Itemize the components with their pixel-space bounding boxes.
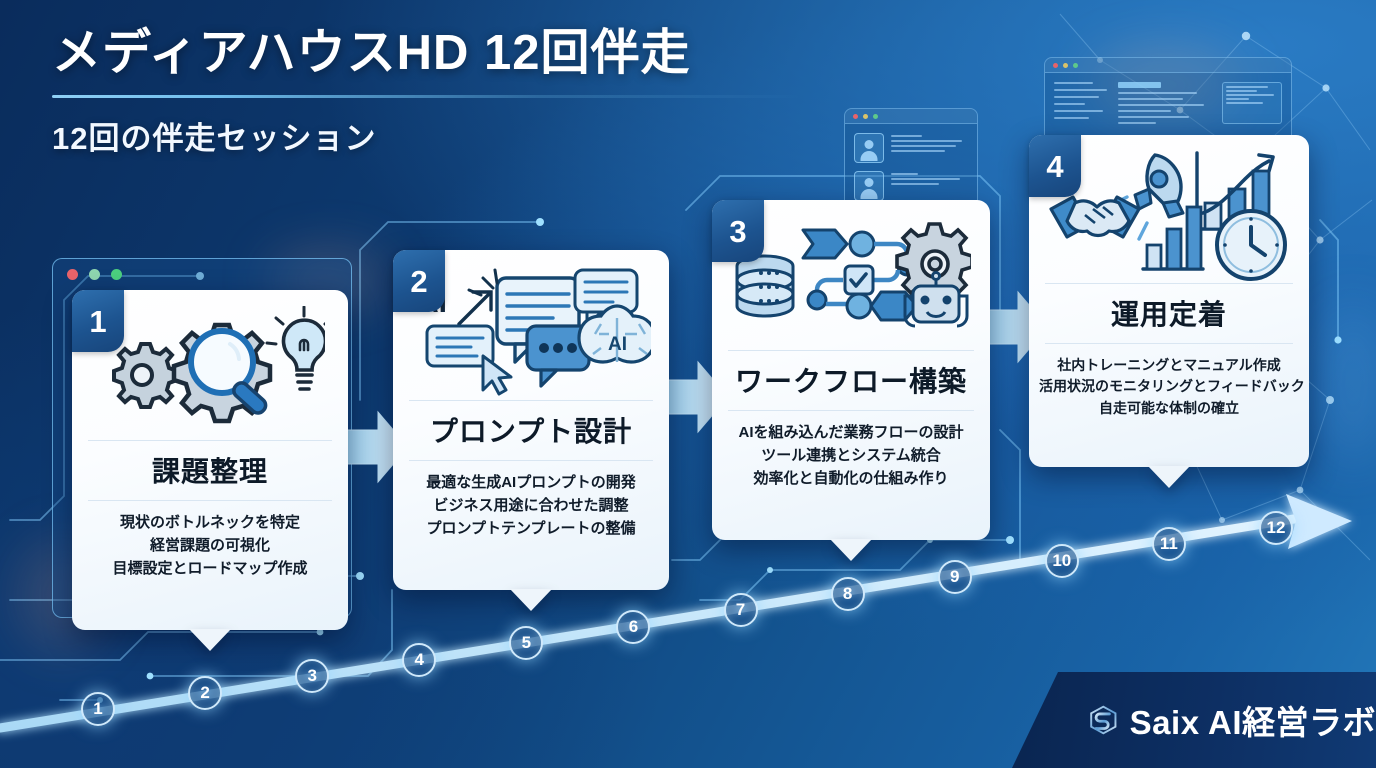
card-2-bullet-3: プロンプトテンプレートの整備 — [403, 518, 659, 541]
card-1-title: 課題整理 — [88, 440, 332, 501]
logo-banner: Saix AI経営ラボ — [1012, 672, 1376, 768]
title-divider — [52, 95, 802, 98]
card-1-bullet-2: 経営課題の可視化 — [82, 535, 338, 558]
card-4-bullet-3: 自走可能な体制の確立 — [1039, 398, 1299, 419]
infographic-canvas: メディアハウスHD 12回伴走 12回の伴走セッション — [0, 0, 1376, 768]
card-1-pointer — [189, 629, 231, 651]
logo-text: Saix AI経営ラボ — [1130, 696, 1376, 744]
timeline-step-9[interactable]: 9 — [938, 560, 972, 594]
timeline-step-3[interactable]: 3 — [295, 659, 329, 693]
card-1-bullets: 現状のボトルネックを特定 経営課題の可視化 目標設定とロードマップ作成 — [72, 501, 348, 594]
card-3-pointer — [830, 539, 872, 561]
card-4-bullets: 社内トレーニングとマニュアル作成 活用状況のモニタリングとフィードバック 自走可… — [1029, 344, 1309, 433]
step-card-3[interactable]: 3 — [712, 200, 990, 540]
svg-text:AI: AI — [608, 334, 627, 355]
cursor-icon — [483, 356, 511, 394]
step-card-1[interactable]: 1 — [72, 290, 348, 630]
timeline-step-7[interactable]: 7 — [724, 593, 758, 627]
timeline-step-10[interactable]: 10 — [1045, 544, 1079, 578]
step-card-2[interactable]: 2 AI — [393, 250, 669, 590]
card-4-pointer — [1148, 466, 1190, 488]
header: メディアハウスHD 12回伴走 12回の伴走セッション — [52, 28, 852, 158]
card-2-bullets: 最適な生成AIプロンプトの開発 ビジネス用途に合わせた調整 プロンプトテンプレー… — [393, 461, 669, 554]
profile-list-window — [844, 108, 978, 214]
timeline-step-4[interactable]: 4 — [402, 643, 436, 677]
step-number-badge: 3 — [712, 200, 764, 262]
card-1-bullet-3: 目標設定とロードマップ作成 — [82, 558, 338, 581]
database-icon — [737, 256, 793, 316]
page-subtitle: 12回の伴走セッション — [52, 113, 852, 158]
timeline-step-2[interactable]: 2 — [188, 676, 222, 710]
card-2-bullet-1: 最適な生成AIプロンプトの開発 — [403, 472, 659, 495]
hexagon-s-icon — [1090, 697, 1117, 743]
avatar — [854, 133, 884, 163]
handshake-icon — [1051, 197, 1139, 237]
window-titlebar — [1045, 58, 1291, 73]
timeline-step-6[interactable]: 6 — [616, 610, 650, 644]
card-3-bullets: AIを組み込んだ業務フローの設計 ツール連携とシステム統合 効率化と自動化の仕組… — [712, 411, 990, 504]
glow-accent-4 — [1318, 300, 1376, 470]
flow-arrow-icon — [803, 230, 917, 320]
card-4-bullet-2: 活用状況のモニタリングとフィードバック — [1039, 376, 1299, 397]
card-3-bullet-1: AIを組み込んだ業務フローの設計 — [722, 422, 980, 445]
window-controls — [53, 259, 351, 280]
timeline-step-11[interactable]: 11 — [1152, 527, 1186, 561]
card-3-title: ワークフロー構築 — [728, 350, 974, 411]
small-gear-icon — [114, 344, 177, 407]
timeline-step-8[interactable]: 8 — [831, 577, 865, 611]
card-1-bullet-1: 現状のボトルネックを特定 — [82, 512, 338, 535]
card-2-title: プロンプト設計 — [409, 400, 653, 461]
lightbulb-icon — [267, 307, 325, 389]
step-number-badge: 2 — [393, 250, 445, 312]
step-card-4[interactable]: 4 — [1029, 135, 1309, 467]
card-4-bullet-1: 社内トレーニングとマニュアル作成 — [1039, 355, 1299, 376]
step-number-badge: 4 — [1029, 135, 1081, 197]
card-2-pointer — [510, 589, 552, 611]
clock-icon — [1217, 211, 1285, 279]
timeline-step-1[interactable]: 1 — [81, 692, 115, 726]
step-number-badge: 1 — [72, 290, 124, 352]
page-title: メディアハウスHD 12回伴走 — [52, 28, 852, 79]
arrow-up-icon — [459, 292, 491, 324]
timeline-step-5[interactable]: 5 — [509, 626, 543, 660]
card-3-bullet-3: 効率化と自動化の仕組み作り — [722, 468, 980, 491]
card-4-title: 運用定着 — [1045, 283, 1293, 344]
card-2-bullet-2: ビジネス用途に合わせた調整 — [403, 495, 659, 518]
avatar — [854, 171, 884, 201]
window-titlebar — [845, 109, 977, 124]
timeline-step-12[interactable]: 12 — [1259, 511, 1293, 545]
card-3-bullet-2: ツール連携とシステム統合 — [722, 445, 980, 468]
